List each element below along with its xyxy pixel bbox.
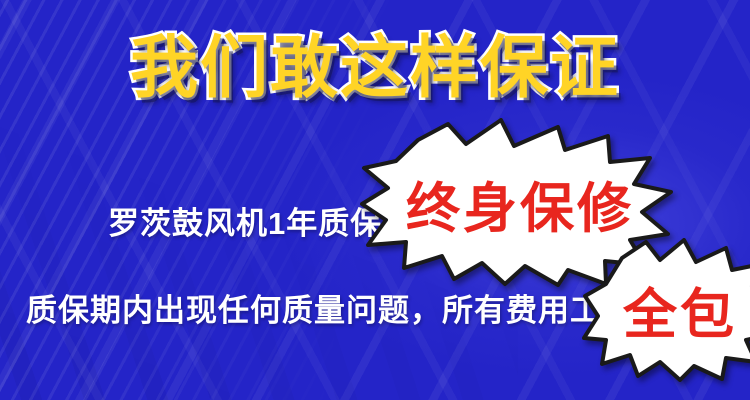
promo-banner: 我们敢这样保证 罗茨鼓风机1年质保， 质保期内出现任何质量问题，所有费用工厂 终…	[0, 0, 750, 400]
starburst-lifetime-warranty-label: 终身保修	[406, 164, 634, 243]
headline-title: 我们敢这样保证	[0, 34, 750, 102]
starburst-all-inclusive: 全包	[584, 238, 750, 380]
guarantee-line-2: 质保期内出现任何质量问题，所有费用工厂	[26, 285, 634, 330]
starburst-all-inclusive-label: 全包	[623, 270, 737, 349]
